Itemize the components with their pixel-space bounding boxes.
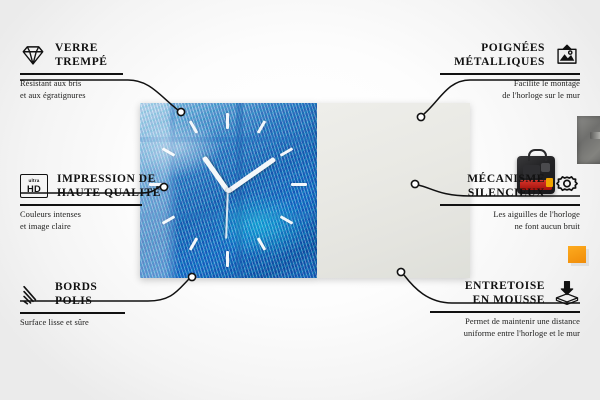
connector-dot-bords-polis (188, 273, 195, 280)
feature-sub-line1: Surface lisse et sûre (20, 317, 160, 329)
feature-sub-line2: de l'horloge sur le mur (440, 90, 580, 102)
infographic-canvas: VERRE TREMPÉ Résistant aux bris et aux é… (0, 0, 600, 400)
feature-title-line1: IMPRESSION DE (57, 172, 161, 186)
feature-title-line1: VERRE (55, 41, 108, 55)
feature-rule (20, 73, 123, 75)
feature-entretoise-en-mousse: ENTRETOISE EN MOUSSE Permet de maintenir… (430, 279, 580, 340)
feature-title-line1: MÉCANISME (467, 172, 545, 186)
connector-dot-entretoise (397, 268, 404, 275)
feature-sub-line2: uniforme entre l'horloge et le mur (430, 328, 580, 340)
feature-mecanisme-silencieux: MÉCANISME SILENCIEUX Les aiguilles de l'… (440, 172, 580, 233)
connector-dot-verre-trempe (177, 108, 184, 115)
feature-verre-trempe: VERRE TREMPÉ Résistant aux bris et aux é… (20, 41, 160, 102)
diamond-icon (20, 42, 46, 68)
ultra-hd-badge-main-text: HD (27, 184, 41, 193)
feature-title-line2: MÉTALLIQUES (454, 55, 545, 69)
feature-title-line1: POIGNÉES (454, 41, 545, 55)
feature-rule (20, 204, 142, 206)
feature-title-line2: SILENCIEUX (467, 186, 545, 200)
ultra-hd-badge-icon: ultra HD (20, 174, 48, 198)
feature-rule (20, 312, 125, 314)
feature-rule (430, 311, 580, 313)
feature-title-line2: POLIS (55, 294, 97, 308)
feature-sub-line1: Permet de maintenir une distance (430, 316, 580, 328)
gear-icon (554, 173, 580, 199)
feature-title-line2: HAUTE QUALITÉ (57, 186, 161, 200)
feature-bords-polis: BORDS POLIS Surface lisse et sûre (20, 280, 160, 329)
feature-impression-haute-qualite: ultra HD IMPRESSION DE HAUTE QUALITÉ Cou… (20, 172, 170, 233)
feature-sub-line1: Les aiguilles de l'horloge (440, 209, 580, 221)
feature-title-line1: ENTRETOISE (465, 279, 545, 293)
feature-sub-line2: et image claire (20, 221, 170, 233)
feature-sub-line2: ne font aucun bruit (440, 221, 580, 233)
feature-rule (440, 204, 580, 206)
connector-dot-poignees (417, 113, 424, 120)
feature-title-line2: TREMPÉ (55, 55, 108, 69)
feature-title-line1: BORDS (55, 280, 97, 294)
connector-dot-mecanisme (411, 180, 418, 187)
feature-rule (440, 73, 580, 75)
foam-spacer-arrow-icon (554, 280, 580, 306)
polished-edges-icon (20, 281, 46, 307)
feature-poignees-metalliques: POIGNÉES MÉTALLIQUES Facilite le montage… (440, 41, 580, 102)
feature-sub-line1: Facilite le montage (440, 78, 580, 90)
feature-sub-line2: et aux égratignures (20, 90, 160, 102)
feature-title-line2: EN MOUSSE (465, 293, 545, 307)
feature-sub-line1: Résistant aux bris (20, 78, 160, 90)
picture-frame-hanger-icon (554, 42, 580, 68)
feature-sub-line1: Couleurs intenses (20, 209, 170, 221)
